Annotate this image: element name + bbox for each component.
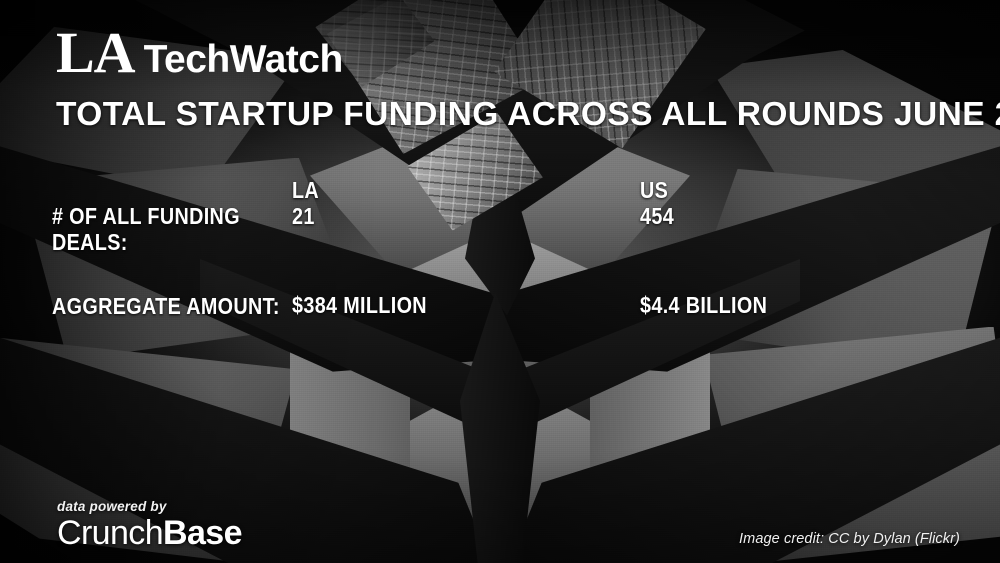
crunchbase-logo: CrunchBase — [57, 516, 242, 551]
la-techwatch-logo: LA TechWatch — [56, 24, 343, 82]
image-credit-text: Image credit: CC by Dylan (Flickr) — [739, 531, 960, 547]
column-la-deals: LA 21 — [292, 178, 319, 230]
slide-content: LA TechWatch TOTAL STARTUP FUNDING ACROS… — [0, 0, 1000, 563]
logo-la-text: LA — [56, 24, 135, 82]
crunchbase-attribution: data powered by CrunchBase — [57, 499, 242, 551]
infographic-slide: LA TechWatch TOTAL STARTUP FUNDING ACROS… — [0, 0, 1000, 563]
row-label-funding-deals: # OF ALL FUNDING DEALS: — [52, 204, 240, 256]
crunchbase-logo-base: Base — [163, 514, 242, 552]
value-us-aggregate-amount: $4.4 BILLION — [640, 293, 767, 319]
column-us-deals: US 454 — [640, 178, 674, 230]
value-la-aggregate-amount: $384 MILLION — [292, 293, 427, 319]
crunchbase-logo-crunch: Crunch — [57, 514, 163, 552]
page-title: TOTAL STARTUP FUNDING ACROSS ALL ROUNDS … — [56, 98, 1000, 132]
row-label-aggregate-amount: AGGREGATE AMOUNT: — [52, 294, 280, 320]
logo-techwatch-text: TechWatch — [144, 40, 343, 79]
data-powered-by-label: data powered by — [57, 499, 242, 514]
